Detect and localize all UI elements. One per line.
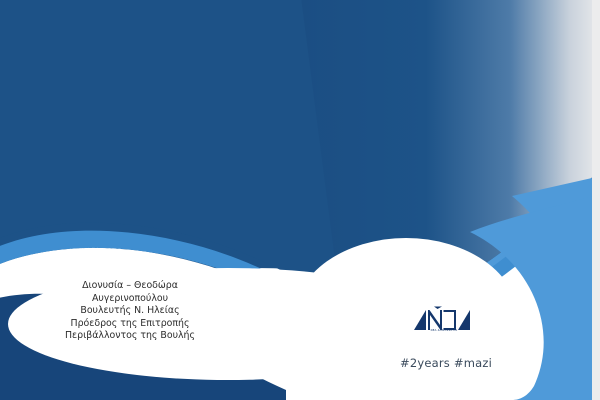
campaign-card: “ Σαν σήμερα, η εμπιστοσύνη που μου δείξ…	[0, 0, 600, 400]
hashtags: #2years #mazi	[386, 356, 506, 370]
quote-text: Σαν σήμερα, η εμπιστοσύνη που μου δείξατ…	[66, 12, 273, 85]
signature-role-chair: Πρόεδρος της Επιτροπής	[30, 318, 230, 331]
quote-open-icon: “	[20, 16, 48, 50]
list-item: ➢ 35 τοποθετήσεις στη Βουλή	[58, 129, 280, 146]
list-item: ➢ 53 αναφορές στη Βουλή	[58, 150, 280, 167]
achievement-list: ➢ 26 ερωτήσεις στη Βουλή ➢ 35 τοποθετήσε…	[58, 108, 280, 226]
signature-block: Διονυσία – Θεοδώρα Αυγερινοπούλου Βουλευ…	[30, 280, 230, 343]
list-item: ➢ 182 συναντήσεις με κυβερνητικούς, περι…	[58, 171, 280, 222]
arrow-bullet-icon: ➢	[58, 129, 66, 146]
arrow-bullet-icon: ➢	[58, 150, 66, 167]
arrow-bullet-icon: ➢	[58, 171, 66, 188]
arrow-bullet-icon: ➢	[58, 108, 66, 125]
list-item-label: 26 ερωτήσεις στη Βουλή	[76, 111, 204, 122]
signature-name-line2: Αυγερινοπούλου	[30, 293, 230, 306]
list-item-label: 53 αναφορές στη Βουλή	[76, 153, 199, 164]
parliament-photo	[292, 60, 584, 220]
list-item-label: 182 συναντήσεις με κυβερνητικούς, περιφε…	[76, 174, 266, 219]
signature-role-mp: Βουλευτής Ν. Ηλείας	[30, 305, 230, 318]
logo-subtitle: ΝΕΑ ΔΗΜΟΚΡΑΤΙΑ	[412, 329, 476, 332]
signature-name-line1: Διονυσία – Θεοδώρα	[30, 280, 230, 293]
list-item: ➢ 26 ερωτήσεις στη Βουλή	[58, 108, 280, 125]
signature-role-committee: Περιβάλλοντος της Βουλής	[30, 330, 230, 343]
parliament-photo-illustration	[292, 60, 584, 220]
list-item-label: 35 τοποθετήσεις στη Βουλή	[76, 132, 220, 143]
closing-text: Και συνεχίζουμε!	[58, 240, 288, 254]
